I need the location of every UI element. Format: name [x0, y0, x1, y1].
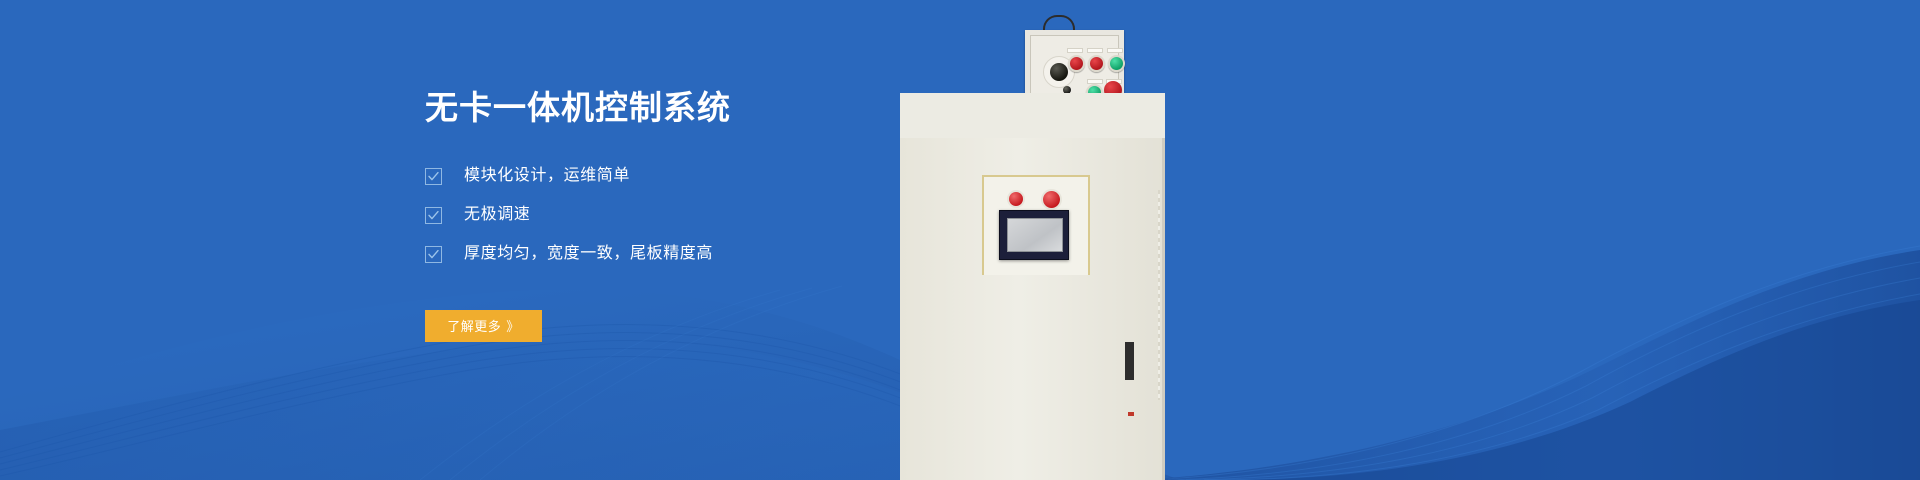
cabinet-door-seam — [1158, 190, 1160, 400]
control-panel-face — [1030, 35, 1119, 94]
chevron-right-icon: 》 — [506, 316, 520, 335]
panel-button-2[interactable] — [1088, 55, 1105, 72]
cabinet-vent-slot — [1125, 342, 1134, 380]
feature-label-3: 厚度均匀，宽度一致，尾板精度高 — [464, 246, 713, 262]
page-title: 无卡一体机控制系统 — [425, 88, 1125, 128]
hero-banner: 无卡一体机控制系统 模块化设计，运维简单 无极调速 — [0, 0, 1920, 480]
panel-button-label-2 — [1087, 48, 1103, 53]
check-icon — [425, 246, 442, 263]
panel-button-label-1 — [1067, 48, 1083, 53]
feature-item-2: 无极调速 — [425, 207, 1125, 224]
learn-more-label: 了解更多 — [447, 316, 501, 335]
check-icon — [425, 168, 442, 185]
hero-content: 无卡一体机控制系统 模块化设计，运维简单 无极调速 — [425, 88, 1125, 342]
panel-button-label-3 — [1107, 48, 1123, 53]
check-icon — [425, 207, 442, 224]
feature-item-3: 厚度均匀，宽度一致，尾板精度高 — [425, 246, 1125, 263]
feature-label-2: 无极调速 — [464, 207, 530, 223]
learn-more-button[interactable]: 了解更多 》 — [425, 310, 542, 342]
feature-item-1: 模块化设计，运维简单 — [425, 168, 1125, 185]
panel-button-3[interactable] — [1108, 55, 1125, 72]
feature-list: 模块化设计，运维简单 无极调速 厚度均匀，宽度一致，尾板精度高 — [425, 168, 1125, 263]
feature-label-1: 模块化设计，运维简单 — [464, 168, 630, 184]
cabinet-right-edge — [1162, 138, 1165, 480]
cabinet-red-marker — [1128, 412, 1134, 416]
panel-button-1[interactable] — [1068, 55, 1085, 72]
